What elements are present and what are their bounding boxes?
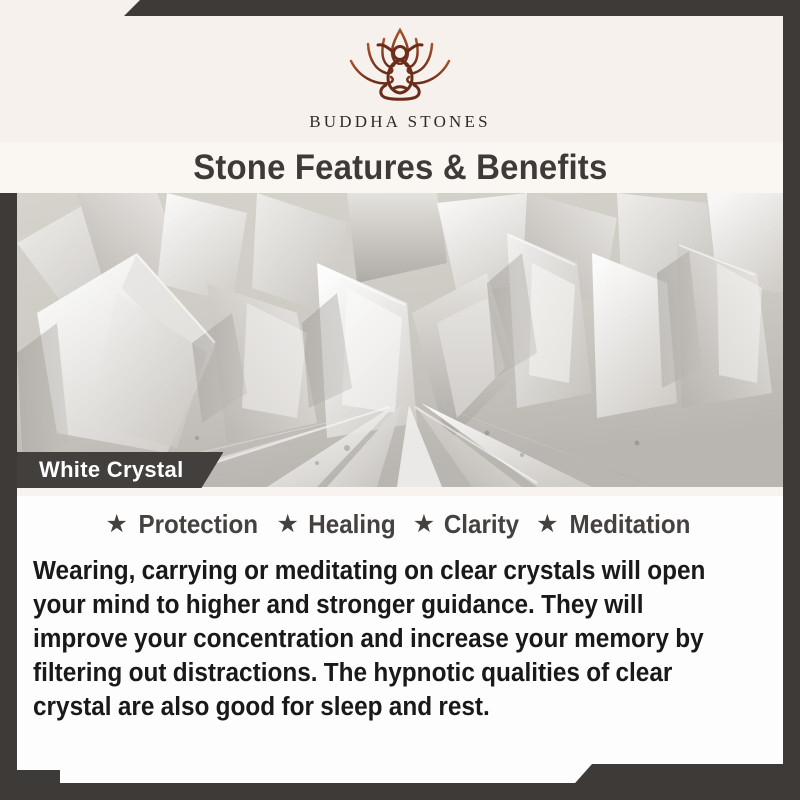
content-panel: ★ Protection ★ Healing ★ Clarity ★ Medit… [17, 487, 783, 783]
page-title: Stone Features & Benefits [193, 148, 607, 188]
frame-left-accent [0, 193, 17, 800]
panel-top-strip [17, 487, 783, 496]
white-crystal-cluster-photo [17, 193, 783, 487]
feature-label: Meditation [569, 509, 690, 540]
feature-label: Clarity [444, 509, 519, 540]
stone-name: White Crystal [39, 457, 183, 483]
feature-item-protection: ★ Protection [105, 509, 262, 540]
feature-item-healing: ★ Healing [276, 509, 398, 540]
star-icon: ★ [413, 512, 435, 537]
brand-name: BUDDHA STONES [309, 112, 491, 132]
feature-item-clarity: ★ Clarity [413, 509, 522, 540]
feature-list: ★ Protection ★ Healing ★ Clarity ★ Medit… [17, 509, 783, 540]
stone-benefits-poster: BUDDHA STONES Stone Features & Benefits [0, 0, 800, 800]
star-icon: ★ [276, 512, 298, 537]
stone-description: Wearing, carrying or meditating on clear… [33, 555, 734, 725]
brand-header: BUDDHA STONES [0, 0, 800, 142]
feature-label: Healing [308, 509, 395, 540]
stone-name-banner: White Crystal [17, 452, 223, 488]
frame-right-accent [783, 0, 800, 800]
lotus-meditation-icon [340, 22, 460, 110]
title-bar: Stone Features & Benefits [0, 142, 800, 193]
frame-bottom-accent [0, 783, 800, 800]
feature-item-meditation: ★ Meditation [536, 509, 694, 540]
star-icon: ★ [536, 512, 558, 537]
star-icon: ★ [105, 512, 127, 537]
feature-label: Protection [138, 509, 258, 540]
